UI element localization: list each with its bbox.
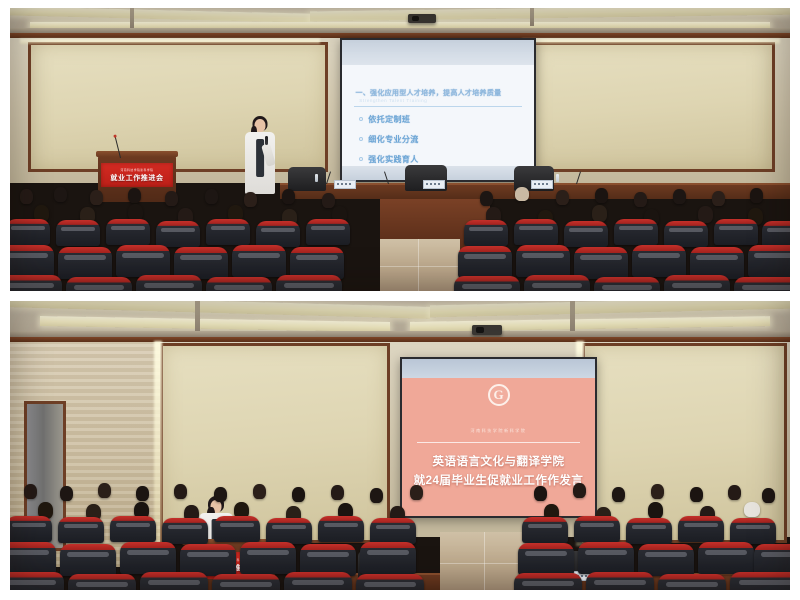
wall-light-strip [522,39,780,44]
audience-head [174,484,187,499]
audience-head [292,487,305,502]
aisle-tile-line [440,563,530,564]
slide-title-line-1: 英语语言文化与翻译学院 [433,453,565,469]
audience-head [60,486,73,501]
ceiling-beam [570,301,575,331]
hall-scene-bottom: G 河南科技学院新科学院 英语语言文化与翻译学院 就24届毕业生促就业工作作发言 [10,301,790,590]
audience-head [410,485,423,500]
projection-screen-top: 一、强化应用型人才培养，提高人才培养质量 Strengthen Talent T… [340,38,536,182]
audience-head [253,484,266,499]
seat [356,574,424,590]
seat [110,516,156,542]
seat [106,219,150,245]
seat [240,542,296,574]
seat [68,574,136,590]
audience-head [762,488,775,503]
audience-head [712,191,725,206]
seat [10,516,52,542]
screenshot-page: 一、强化应用型人才培养，提高人才培养质量 Strengthen Talent T… [0,0,800,600]
seat [518,543,574,575]
seat [762,221,790,247]
audience-head [612,487,625,502]
seat [276,275,342,291]
seat [574,516,620,542]
handheld-microphone [265,136,268,145]
audience-head [331,485,344,500]
seat [594,277,660,291]
audience-head [205,189,218,204]
slide-top-band [402,359,595,378]
seat [140,572,208,590]
seat [698,542,754,574]
audience-head [634,192,647,207]
projector-icon [408,14,436,23]
bullet-dot-icon [359,157,363,161]
ceiling-beam [130,8,134,28]
seat [58,517,104,543]
audience-head [690,487,703,502]
seat [306,219,350,245]
podium-banner-text: 就业工作推进会 [110,173,163,183]
audience-head [592,205,607,222]
seat [10,542,56,574]
seat [714,219,758,245]
wall-trim [10,337,790,342]
seat [10,245,54,277]
seat [136,275,202,291]
seat [232,245,286,277]
audience-head [744,502,760,517]
university-logo-icon: G [488,384,510,406]
seat [116,245,170,277]
seat [318,516,364,542]
podium-banner-logo-text: 河南科技学院新科学院 [121,168,154,172]
bullet-label: 依托定制班 [368,114,410,125]
seat [464,220,508,246]
bullet-dot-icon [359,137,363,141]
audience-head [20,189,33,204]
projector-icon [472,325,502,335]
audience-head [282,189,295,204]
bullet-dot-icon [359,117,363,121]
bullet-label: 细化专业分流 [368,134,418,145]
audience-head [728,485,741,500]
audience-head [165,191,178,206]
bullet-label: 强化实践育人 [368,154,418,165]
seat [734,277,790,291]
audience-head [750,188,763,203]
seat [156,221,200,247]
water-bottle [556,174,559,182]
wall-acoustic-panel [530,42,775,172]
wall-light-strip [20,39,320,44]
list-item: 细化专业分流 [359,134,522,145]
audience-head [480,191,493,206]
slide-content-top: 一、强化应用型人才培养，提高人才培养质量 Strengthen Talent T… [342,65,534,166]
slide-heading: 一、强化应用型人才培养，提高人才培养质量 [355,88,520,98]
seat [206,277,272,291]
seat [214,516,260,542]
audience-head [54,187,67,202]
audience-head [556,190,569,205]
water-bottle [315,174,318,182]
slide-org-name: 河南科技学院新科学院 [471,428,527,434]
ceiling-beam [195,301,200,331]
seat [454,276,520,291]
audience-head [136,486,149,501]
slide-divider [417,442,579,443]
audience-head [24,484,37,499]
seat [730,518,776,544]
audience-head [648,502,663,519]
screen-top-band [342,40,534,65]
seat [458,246,512,278]
seat [206,219,250,245]
podium-surface [96,151,179,157]
list-item: 依托定制班 [359,114,522,125]
audience-head [534,486,547,501]
seat [514,219,558,245]
seat [360,542,416,574]
audience-head [595,188,608,203]
audience-head [370,488,383,503]
seat [614,219,658,245]
seat [514,573,582,590]
seat [632,245,686,277]
seat [626,518,672,544]
seat [748,245,790,277]
seat [56,220,100,246]
photo-bottom: G 河南科技学院新科学院 英语语言文化与翻译学院 就24届毕业生促就业工作作发言 [10,301,790,590]
aisle-tile-line [484,532,485,590]
hall-scene-top: 一、强化应用型人才培养，提高人才培养质量 Strengthen Talent T… [10,8,790,291]
seat [522,517,568,543]
slide-divider [354,106,523,107]
seat [60,544,116,576]
seat [10,572,64,590]
audience-head [98,483,111,498]
audience-head [244,192,257,207]
seat [664,221,708,247]
seat [516,245,570,277]
seat [578,542,634,574]
audience-head [322,193,335,208]
seat [370,518,416,544]
center-aisle [380,239,460,291]
ceiling-beam [530,8,534,26]
audience-area-top [10,183,790,291]
seat [574,247,628,279]
seat [524,275,590,291]
seat [638,544,694,576]
aisle-tile-line [418,239,419,291]
audience-area-bottom [10,480,790,590]
slide-subheading: Strengthen Talent Training [359,98,427,103]
seat [664,275,730,291]
audience-head [214,487,227,502]
seat [564,221,608,247]
seat [678,516,724,542]
audience-head [673,189,686,204]
seat [212,574,280,590]
audience-head [573,483,586,498]
seat [284,572,352,590]
seat [10,219,50,245]
audience-head [651,484,664,499]
aisle-tile-line [380,266,460,267]
audience-head [90,190,103,205]
seat [120,542,176,574]
seat [266,518,312,544]
audience-head [515,187,529,201]
seat [658,574,726,590]
seat [256,221,300,247]
seat [66,277,132,291]
seat [58,247,112,279]
audience-head [128,188,141,203]
seat [586,572,654,590]
photo-top: 一、强化应用型人才培养，提高人才培养质量 Strengthen Talent T… [10,8,790,291]
list-item: 强化实践育人 [359,154,522,165]
seat [10,275,62,291]
seat [730,572,790,590]
seat [162,518,208,544]
